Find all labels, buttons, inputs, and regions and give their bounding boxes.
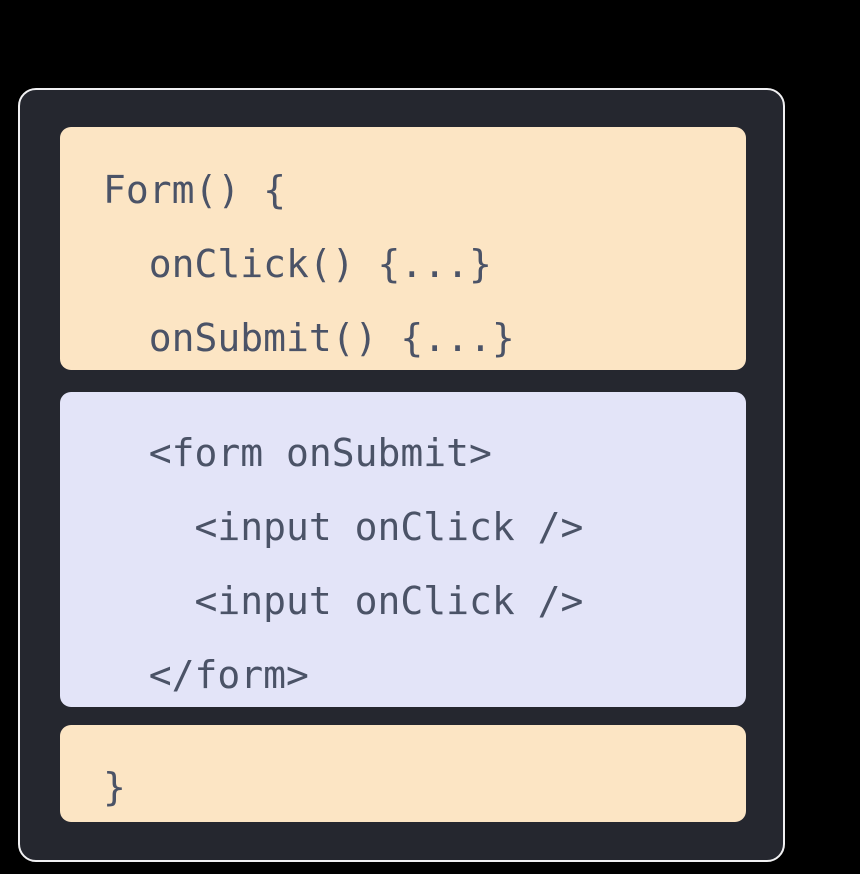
code-line: <input onClick />: [60, 564, 746, 638]
code-line: onSubmit() {...}: [60, 301, 746, 370]
code-panel-markup-return: <form onSubmit> <input onClick /> <input…: [60, 392, 746, 707]
code-line: <input onClick />: [60, 490, 746, 564]
code-panel-component-close: }: [60, 725, 746, 822]
code-line: onClick() {...}: [60, 227, 746, 301]
code-line: Form() {: [60, 153, 746, 227]
code-line: }: [60, 750, 746, 822]
diagram-root: Form() { onClick() {...} onSubmit() {...…: [0, 0, 860, 874]
code-card: Form() { onClick() {...} onSubmit() {...…: [18, 88, 785, 862]
code-line: </form>: [60, 638, 746, 707]
code-line: <form onSubmit>: [60, 416, 746, 490]
code-panel-component-open: Form() { onClick() {...} onSubmit() {...…: [60, 127, 746, 370]
